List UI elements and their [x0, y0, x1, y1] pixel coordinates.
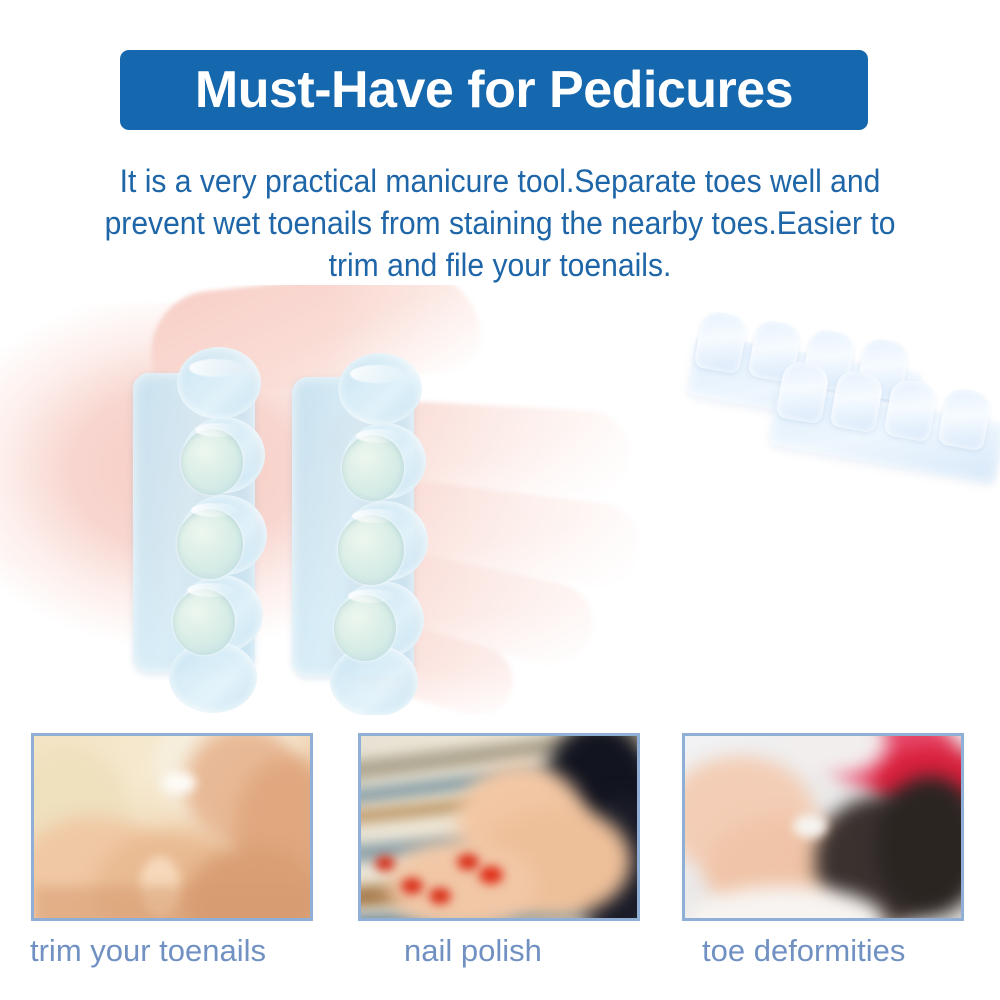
toe-separator-right: [292, 377, 414, 677]
thumbnail-trim-your-toenails[interactable]: [31, 733, 313, 921]
headline-banner: Must-Have for Pedicures: [120, 50, 868, 130]
caption-toe-deformities: toe deformities: [702, 934, 905, 968]
headline-text: Must-Have for Pedicures: [195, 64, 793, 116]
caption-nail-polish: nail polish: [404, 934, 542, 968]
thumbnail-image-2: [361, 736, 637, 918]
thumbnail-toe-deformities[interactable]: [682, 733, 964, 921]
toe-separator-left: [133, 373, 255, 673]
product-infographic: Must-Have for Pedicures It is a very pra…: [0, 0, 1000, 1000]
description-text: It is a very practical manicure tool.Sep…: [86, 160, 913, 287]
hero-product-photo: [0, 285, 1000, 715]
thumbnail-nail-polish[interactable]: [358, 733, 640, 921]
thumbnail-image-1: [34, 736, 310, 918]
thumbnail-image-3: [685, 736, 961, 918]
caption-trim-your-toenails: trim your toenails: [30, 934, 266, 968]
